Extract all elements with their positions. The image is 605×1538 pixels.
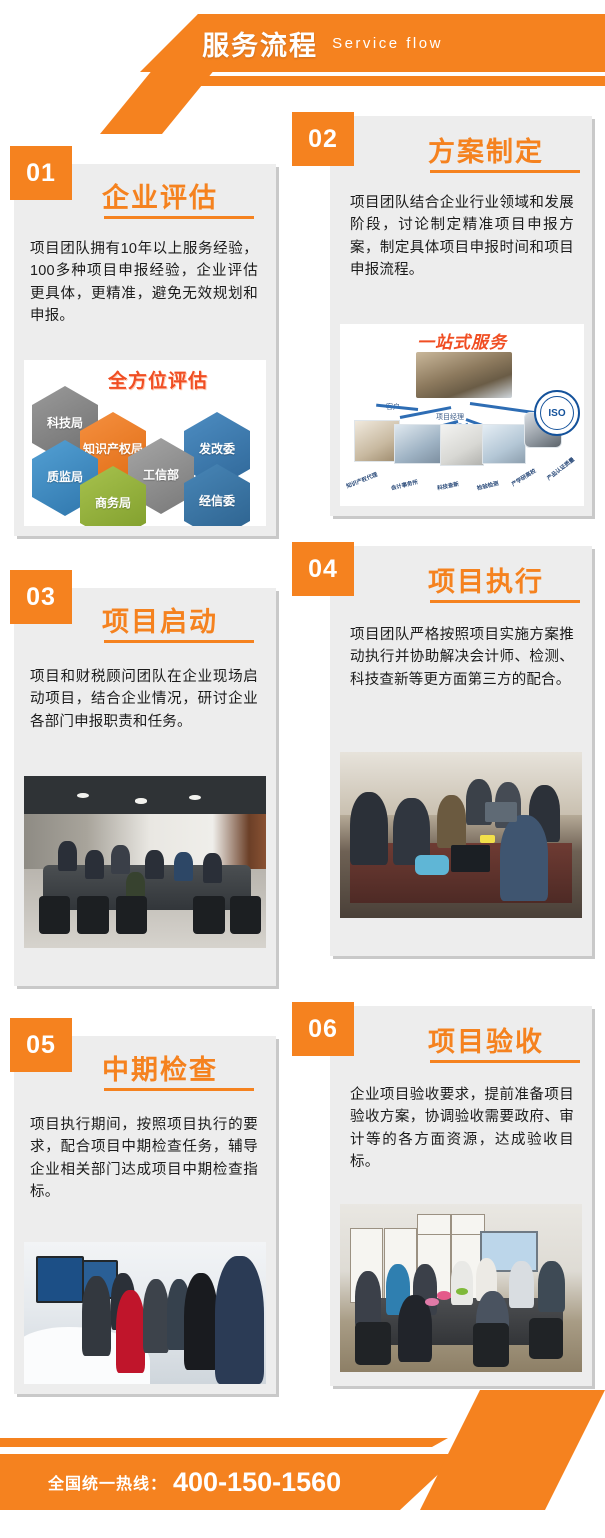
step-body-01: 项目团队拥有10年以上服务经验，100多种项目申报经验，企业评估更具体，更精准，… xyxy=(30,238,258,328)
photo-person xyxy=(451,1261,473,1305)
photo-display xyxy=(36,1256,84,1303)
service-node-inspection xyxy=(482,424,526,464)
footer-hotline-group: 全国统一热线： 400-150-1560 xyxy=(48,1454,341,1510)
step-title-03: 项目启动 xyxy=(102,600,218,639)
step-card-02: 02 方案制定 项目团队结合企业行业领域和发展阶段，讨论制定精准项目申报方案，制… xyxy=(330,116,592,516)
step-badge-05: 05 xyxy=(10,1018,72,1072)
step-badge-06: 06 xyxy=(292,1002,354,1056)
service-label-search: 科技查新 xyxy=(436,480,459,492)
step-card-05: 05 中期检查 项目执行期间，按照项目执行的要求，配合项目中期检查任务，辅导企业… xyxy=(14,1036,276,1394)
page-header: 服务流程 Service flow xyxy=(0,0,605,100)
hex-label: 质监局 xyxy=(47,471,83,485)
hex-label: 发改委 xyxy=(199,443,235,457)
page-title: 服务流程 xyxy=(202,24,318,63)
step-title-01: 企业评估 xyxy=(102,176,218,215)
photo-person xyxy=(82,1276,111,1356)
service-node-search xyxy=(440,424,484,466)
photo-person xyxy=(145,850,164,879)
photo-person xyxy=(58,841,77,870)
photo-chair xyxy=(77,896,108,934)
photo-person xyxy=(111,845,130,874)
hex-label: 经信委 xyxy=(199,495,235,509)
photo-light xyxy=(135,798,147,803)
service-label-accounting: 会计事务所 xyxy=(390,478,419,492)
photo-light xyxy=(189,795,201,800)
title-underline-02 xyxy=(430,170,580,173)
title-underline-04 xyxy=(430,600,580,603)
hotline-number[interactable]: 400-150-1560 xyxy=(173,1467,341,1498)
photo-flower xyxy=(456,1288,468,1295)
hex-label: 工信部 xyxy=(143,469,179,483)
step-photo-05 xyxy=(24,1242,266,1384)
step-photo-06 xyxy=(340,1204,582,1372)
title-underline-01 xyxy=(104,216,254,219)
step-title-02: 方案制定 xyxy=(428,130,544,169)
step-title-05: 中期检查 xyxy=(102,1048,218,1087)
step-card-03: 03 项目启动 项目和财税顾问团队在企业现场启动项目，结合企业情况，研讨企业各部… xyxy=(14,588,276,986)
step-photo-03 xyxy=(24,776,266,948)
hex-label: 科技局 xyxy=(47,417,83,431)
one-stop-center-label-manager: 项目经理 xyxy=(436,412,464,422)
step-body-06: 企业项目验收要求，提前准备项目验收方案，协调验收需要政府、审计等的各方面资源，达… xyxy=(350,1084,574,1174)
photo-person xyxy=(85,850,104,879)
photo-note xyxy=(480,835,495,843)
iso-seal-icon: ISO xyxy=(534,390,580,436)
header-title-group: 服务流程 Service flow xyxy=(0,14,605,72)
title-underline-05 xyxy=(104,1088,254,1091)
photo-chair xyxy=(529,1318,563,1358)
photo-chair xyxy=(116,896,147,934)
step-badge-02: 02 xyxy=(292,112,354,166)
step-body-05: 项目执行期间，按照项目执行的要求，配合项目中期检查任务，辅导企业相关部门达成项目… xyxy=(30,1114,258,1204)
step-card-01: 01 企业评估 项目团队拥有10年以上服务经验，100多种项目申报经验，企业评估… xyxy=(14,164,276,536)
photo-person xyxy=(350,792,389,865)
step-card-06: 06 项目验收 企业项目验收要求，提前准备项目验收方案，协调验收需要政府、审计等… xyxy=(330,1006,592,1386)
step-badge-04: 04 xyxy=(292,542,354,596)
photo-person xyxy=(538,1261,565,1311)
photo-light xyxy=(77,793,89,798)
photo-laptop xyxy=(451,845,490,872)
service-node-accounting xyxy=(394,424,442,464)
photo-person xyxy=(143,1279,170,1353)
photo-chair xyxy=(473,1323,509,1367)
meeting-photo-node xyxy=(416,352,512,398)
photo-person xyxy=(500,815,548,901)
photo-laptop xyxy=(485,802,516,822)
service-label-certification: 产品认证质量 xyxy=(545,455,576,482)
header-accent-stripe xyxy=(0,76,605,86)
photo-person-red-coat xyxy=(116,1290,145,1372)
photo-person xyxy=(355,1271,382,1328)
hexagon-figure-title: 全方位评估 xyxy=(108,366,208,393)
assessment-hexagon-figure: 全方位评估 科技局 知识产权局 发改委 质监局 工信部 经信委 商务局 xyxy=(24,360,266,526)
photo-person xyxy=(203,853,222,882)
title-underline-03 xyxy=(104,640,254,643)
footer-diagonal-wedge xyxy=(420,1390,605,1510)
step-title-06: 项目验收 xyxy=(428,1020,544,1059)
service-label-inspection: 检验检测 xyxy=(476,479,499,492)
photo-flower xyxy=(437,1291,452,1299)
infographic-page: 服务流程 Service flow 01 企业评估 项目团队拥有10年以上服务经… xyxy=(0,0,605,1538)
step-title-04: 项目执行 xyxy=(428,560,544,599)
step-body-03: 项目和财税顾问团队在企业现场启动项目，结合企业情况，研讨企业各部门申报职责和任务… xyxy=(30,666,258,733)
one-stop-service-figure: 一站式服务 客户 项目经理 ISO 知识产权代理 会计事务所 科技查新 检验检测… xyxy=(340,324,584,506)
hex-label: 商务局 xyxy=(95,497,131,511)
photo-person xyxy=(437,795,466,848)
step-badge-01: 01 xyxy=(10,146,72,200)
one-stop-figure-title: 一站式服务 xyxy=(340,328,584,353)
photo-person xyxy=(215,1256,263,1384)
page-subtitle: Service flow xyxy=(332,35,443,52)
photo-chair xyxy=(355,1322,391,1366)
service-label-university: 产学研高校 xyxy=(510,467,538,488)
photo-chair xyxy=(39,896,70,934)
step-card-04: 04 项目执行 项目团队严格按照项目实施方案推动执行并协助解决会计师、检测、科技… xyxy=(330,546,592,956)
photo-chair xyxy=(230,896,261,934)
photo-person xyxy=(509,1261,533,1308)
step-badge-03: 03 xyxy=(10,570,72,624)
photo-person xyxy=(174,852,193,881)
page-footer: 全国统一热线： 400-150-1560 xyxy=(0,1438,605,1538)
photo-person xyxy=(184,1273,218,1370)
step-photo-04 xyxy=(340,752,582,918)
photo-equipment xyxy=(415,855,449,875)
hotline-label: 全国统一热线： xyxy=(48,1470,167,1494)
step-body-02: 项目团队结合企业行业领域和发展阶段，讨论制定精准项目申报方案，制定具体项目申报时… xyxy=(350,192,574,282)
step-body-04: 项目团队严格按照项目实施方案推动执行并协助解决会计师、检测、科技查新等更方面第三… xyxy=(350,624,574,691)
title-underline-06 xyxy=(430,1060,580,1063)
photo-chair xyxy=(193,896,224,934)
service-label-ip: 知识产权代理 xyxy=(345,470,379,490)
